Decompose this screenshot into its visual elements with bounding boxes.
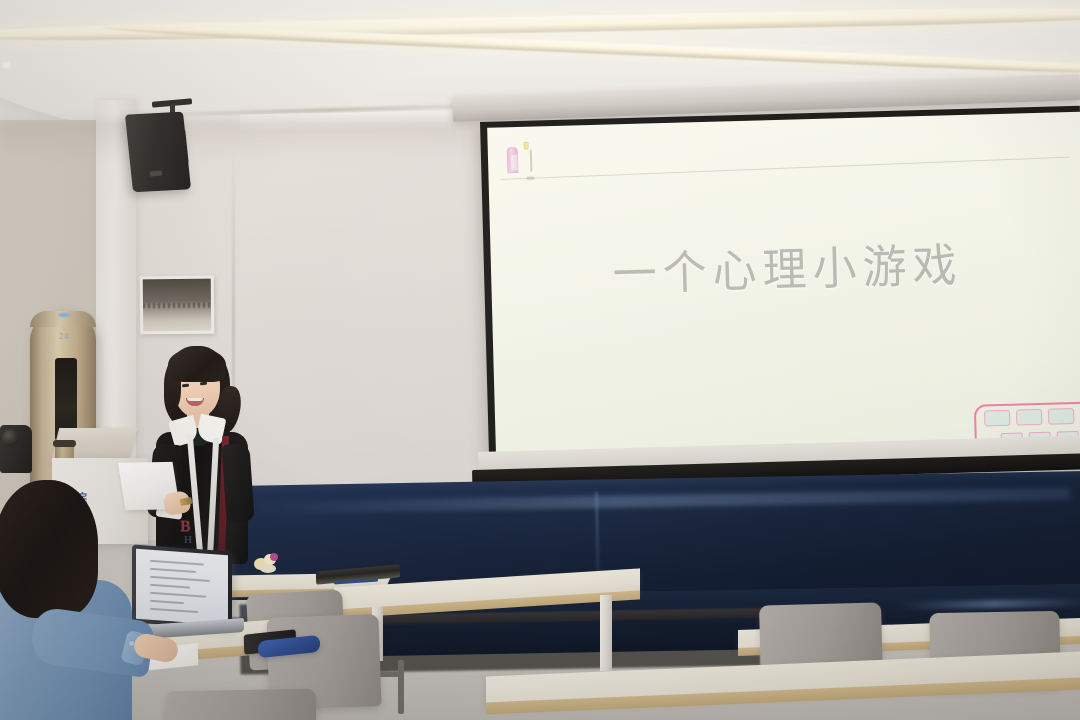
attendee-hair — [0, 480, 98, 618]
coffee-cup-lid — [53, 440, 76, 447]
street-lamp-base-icon — [526, 176, 534, 179]
air-conditioner-led-icon — [58, 313, 70, 317]
bus-window — [1016, 409, 1042, 426]
laptop-screen[interactable] — [136, 549, 228, 625]
projection-slide: 一个心理小游戏 — [487, 112, 1080, 494]
ceiling-speaker-icon — [125, 112, 191, 193]
street-lamp-icon — [524, 141, 529, 149]
flower-petal — [260, 564, 276, 573]
slide-title: 一个心理小游戏 — [490, 225, 1080, 308]
flower-petal — [270, 553, 278, 561]
classroom-scene: 24 一个心理小游戏 — [0, 0, 1080, 720]
framed-picture — [140, 276, 215, 335]
recessed-downlight-icon — [2, 62, 11, 68]
projector-screen-frame: 一个心理小游戏 — [480, 106, 1080, 494]
flower-arrangement — [252, 552, 282, 574]
picture-artwork — [143, 279, 212, 332]
presenter-sleeve — [221, 443, 254, 523]
presenter-teeth — [187, 398, 203, 401]
chair-leg — [398, 660, 404, 714]
slide-divider-line — [500, 156, 1069, 179]
seated-attendee — [0, 480, 148, 720]
air-conditioner-display: 24 — [52, 328, 76, 344]
telephone-booth-icon — [507, 147, 519, 173]
table-leg — [600, 595, 612, 671]
bus-window — [984, 410, 1010, 427]
bus-window — [1048, 408, 1074, 425]
camera-lens-icon — [2, 429, 19, 446]
chair — [166, 689, 317, 720]
presenter-hair-front — [168, 348, 226, 382]
street-lamp-pole-icon — [529, 149, 532, 171]
presenter: B H — [138, 344, 258, 580]
